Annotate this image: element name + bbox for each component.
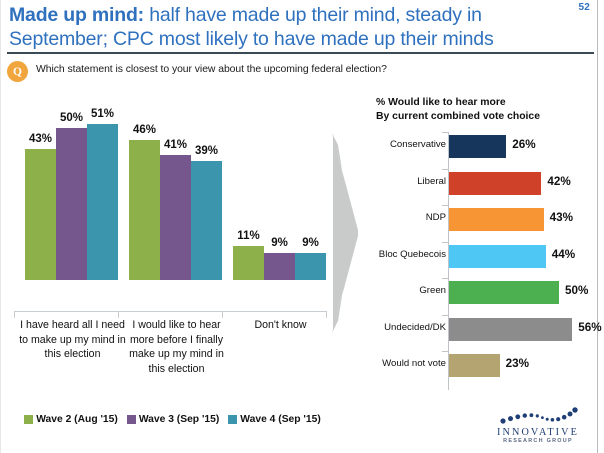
left-chart-bar-value: 39% — [195, 145, 218, 157]
chart-would-like-to-hear-more: % Would like to hear more By current com… — [360, 96, 600, 406]
right-chart-axis-tick — [442, 278, 448, 279]
right-chart-bar-value: 50% — [565, 284, 588, 297]
right-chart-axis-tick — [442, 132, 448, 133]
right-chart-bar[interactable] — [449, 172, 541, 195]
right-chart-category-label: Liberal — [362, 176, 446, 187]
slide-title-emphasis: Made up mind: — [9, 4, 144, 26]
legend-swatch-icon — [24, 415, 33, 424]
legend-swatch-icon — [127, 415, 136, 424]
left-chart-bar-fill — [264, 253, 295, 280]
left-chart-bar[interactable]: 50% — [56, 128, 87, 281]
right-chart-title-line1: % Would like to hear more — [376, 96, 540, 110]
right-chart-title-line2: By current combined vote choice — [376, 110, 540, 124]
right-chart-axis-tick — [442, 205, 448, 206]
left-chart-baseline — [14, 311, 326, 312]
right-chart-bar-row: Would not vote23% — [360, 351, 600, 381]
left-chart-bar-value: 46% — [133, 124, 156, 136]
right-chart-bar-row: Bloc Quebecois44% — [360, 242, 600, 272]
right-chart-axis-tick — [442, 351, 448, 352]
left-chart-category-label: I would like to hear more before I final… — [122, 318, 231, 376]
left-chart-plot-area: 43%50%51%46%41%39%11%9%9% — [0, 96, 345, 318]
left-chart-axis-tick — [326, 311, 327, 318]
left-chart-bar-fill — [160, 155, 191, 280]
left-chart-bar-value: 9% — [271, 237, 288, 249]
slide-title: Made up mind: half have made up their mi… — [9, 3, 569, 51]
right-chart-category-label: NDP — [362, 212, 446, 223]
left-chart-bar-fill — [233, 246, 264, 280]
logo-subtitle: RESEARCH GROUP — [489, 438, 587, 444]
right-chart-bar[interactable] — [449, 318, 572, 341]
left-chart-bar-value: 43% — [29, 133, 52, 145]
left-chart-axis-tick — [222, 311, 223, 318]
left-chart-legend: Wave 2 (Aug '15)Wave 3 (Sep '15)Wave 4 (… — [0, 414, 345, 425]
page-number: 52 — [578, 2, 590, 13]
left-chart-bar-group: 46%41%39% — [129, 102, 224, 280]
left-chart-bar-fill — [87, 124, 118, 280]
right-chart-bar[interactable] — [449, 281, 559, 304]
right-chart-bar-row: Green50% — [360, 278, 600, 308]
right-chart-bar-value: 42% — [547, 175, 570, 188]
left-chart-bar-fill — [191, 161, 222, 280]
right-chart-bar-row: Liberal42% — [360, 169, 600, 199]
left-chart-bar-value: 9% — [302, 237, 319, 249]
legend-swatch-icon — [228, 415, 237, 424]
left-chart-bar-value: 41% — [164, 139, 187, 151]
right-chart-bar-value: 23% — [506, 357, 529, 370]
left-chart-bar[interactable]: 51% — [87, 124, 118, 280]
right-chart-axis-tick — [442, 315, 448, 316]
left-chart-bar-fill — [25, 149, 56, 280]
right-chart-bar[interactable] — [449, 354, 500, 377]
left-chart-bar[interactable]: 43% — [25, 149, 56, 280]
left-chart-bar-fill — [129, 140, 160, 280]
left-chart-bar-fill — [56, 128, 87, 281]
left-chart-bar-value: 51% — [91, 108, 114, 120]
left-chart-bar[interactable]: 9% — [264, 253, 295, 280]
right-chart-bar[interactable] — [449, 245, 546, 268]
right-chart-axis-tick — [442, 242, 448, 243]
logo-dots-icon — [489, 405, 587, 427]
left-chart-bar-fill — [295, 253, 326, 280]
right-chart-bar-row: NDP43% — [360, 205, 600, 235]
slide-canvas: 52 Made up mind: half have made up their… — [0, 0, 604, 453]
left-chart-axis-tick — [14, 311, 15, 318]
left-chart-legend-label: Wave 3 (Sep '15) — [139, 414, 219, 425]
right-chart-bar[interactable] — [449, 208, 544, 231]
chart-made-up-mind-by-wave: 43%50%51%46%41%39%11%9%9% I have heard a… — [0, 96, 345, 453]
left-chart-legend-item[interactable]: Wave 2 (Aug '15) — [24, 414, 118, 425]
left-chart-bar-value: 11% — [237, 230, 259, 242]
flow-arrow-icon — [330, 133, 364, 333]
left-chart-category-label: Don't know — [226, 318, 335, 333]
right-chart-bar-row: Conservative26% — [360, 132, 600, 162]
left-chart-bar[interactable]: 9% — [295, 253, 326, 280]
question-badge: Q — [7, 61, 28, 82]
logo-name: INNOVATIVE — [489, 427, 587, 438]
right-chart-category-label: Conservative — [362, 139, 446, 150]
left-chart-bar[interactable]: 41% — [160, 155, 191, 280]
right-chart-category-label: Undecided/DK — [362, 322, 446, 333]
left-chart-bar[interactable]: 11% — [233, 246, 264, 280]
right-chart-bar-value: 56% — [578, 321, 601, 334]
title-divider — [7, 52, 594, 54]
left-chart-bar[interactable]: 46% — [129, 140, 160, 280]
right-chart-bar[interactable] — [449, 135, 506, 158]
right-chart-bar-value: 43% — [550, 211, 573, 224]
right-chart-bar-row: Undecided/DK56% — [360, 315, 600, 345]
left-chart-legend-label: Wave 2 (Aug '15) — [36, 414, 118, 425]
right-chart-plot-area: Conservative26%Liberal42%NDP43%Bloc Queb… — [360, 130, 600, 400]
left-chart-legend-item[interactable]: Wave 4 (Sep '15) — [228, 414, 320, 425]
left-chart-category-labels: I have heard all I need to make up my mi… — [0, 318, 345, 408]
logo-innovative-research-group: INNOVATIVE RESEARCH GROUP — [489, 405, 587, 449]
left-chart-legend-label: Wave 4 (Sep '15) — [240, 414, 320, 425]
right-chart-bar-value: 26% — [512, 138, 535, 151]
left-chart-legend-item[interactable]: Wave 3 (Sep '15) — [127, 414, 219, 425]
left-chart-category-label: I have heard all I need to make up my mi… — [18, 318, 127, 362]
left-chart-bar-value: 50% — [60, 112, 83, 124]
left-chart-axis-tick — [118, 311, 119, 318]
right-chart-category-label: Bloc Quebecois — [362, 249, 446, 260]
question-text: Which statement is closest to your view … — [36, 64, 387, 75]
left-chart-bar-group: 43%50%51% — [25, 102, 120, 280]
left-chart-bar-group: 11%9%9% — [233, 102, 328, 280]
right-chart-category-label: Would not vote — [362, 358, 446, 369]
right-chart-axis-tick — [442, 169, 448, 170]
left-chart-bar[interactable]: 39% — [191, 161, 222, 280]
right-chart-bar-value: 44% — [552, 248, 575, 261]
right-chart-category-label: Green — [362, 285, 446, 296]
right-chart-title: % Would like to hear more By current com… — [376, 96, 540, 123]
